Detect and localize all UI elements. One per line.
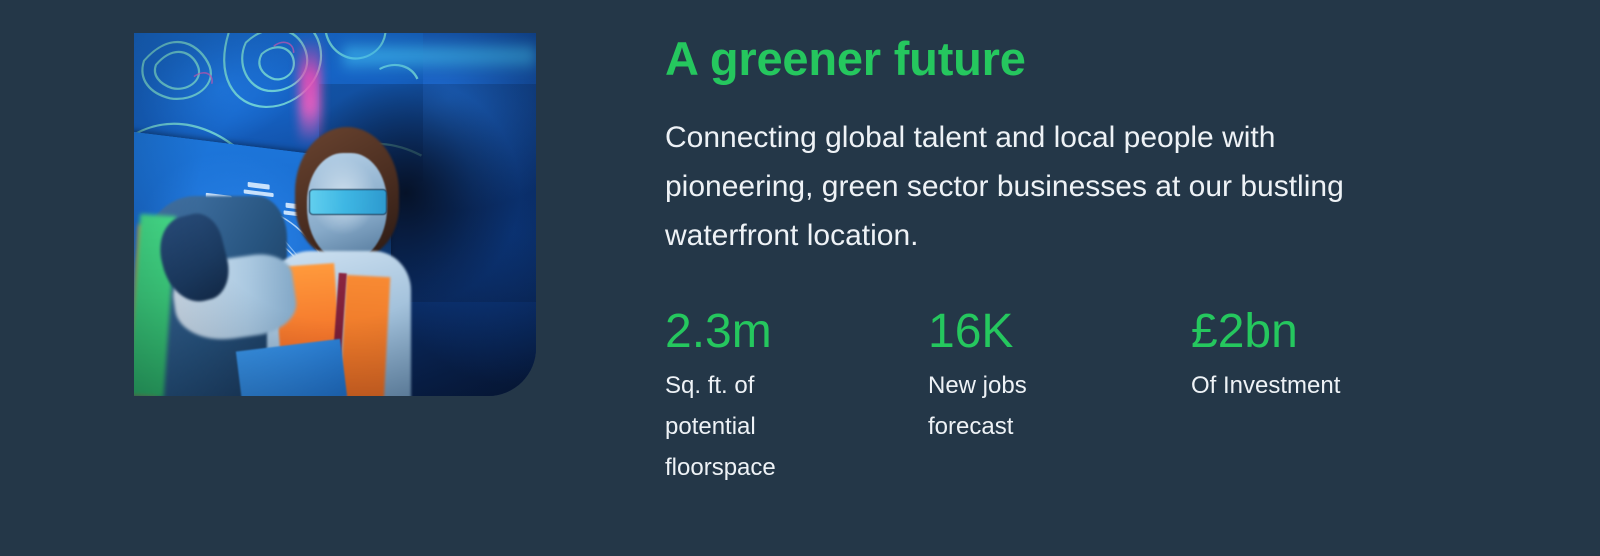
feature-photo <box>134 33 536 396</box>
body-paragraph: Connecting global talent and local peopl… <box>665 113 1425 260</box>
stat-label: New jobs forecast <box>928 365 1113 447</box>
stat-item-jobs: 16K New jobs forecast <box>928 306 1191 488</box>
stat-item-floorspace: 2.3m Sq. ft. of potential floorspace <box>665 306 928 488</box>
greener-future-banner: A greener future Connecting global talen… <box>0 0 1600 556</box>
stats-row: 2.3m Sq. ft. of potential floorspace 16K… <box>665 306 1465 488</box>
stat-value: £2bn <box>1191 306 1454 358</box>
photo-vignette <box>134 33 536 396</box>
stat-item-investment: £2bn Of Investment <box>1191 306 1454 488</box>
page-title: A greener future <box>665 33 1026 86</box>
stat-value: 2.3m <box>665 306 928 358</box>
content-column: A greener future Connecting global talen… <box>665 0 1465 556</box>
stat-value: 16K <box>928 306 1191 358</box>
stat-label: Sq. ft. of potential floorspace <box>665 365 850 488</box>
stat-label: Of Investment <box>1191 365 1376 406</box>
